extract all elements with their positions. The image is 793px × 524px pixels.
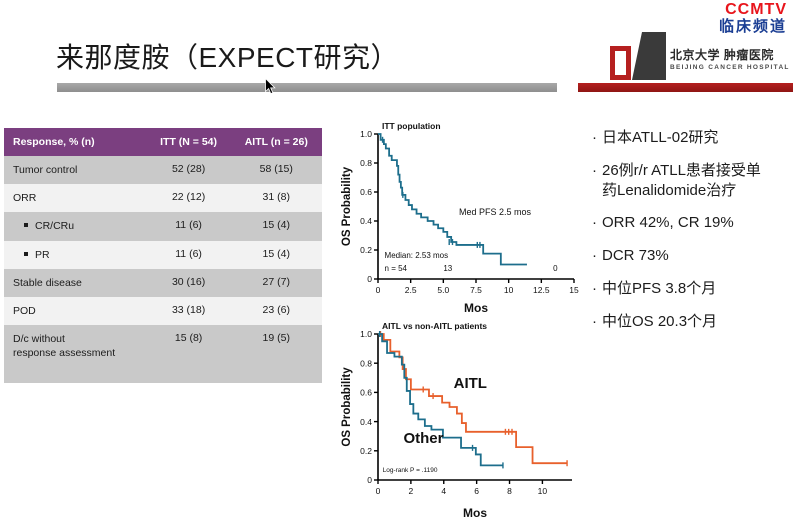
cell-aitl: 58 (15) (231, 156, 322, 184)
chart-annotation: 0 (553, 264, 558, 273)
chart-title: ITT population (382, 121, 441, 131)
cell-aitl: 15 (4) (231, 212, 322, 240)
bullet-dot-icon: · (592, 312, 602, 332)
bullet-item: ·中位OS 20.3个月 (592, 312, 793, 332)
chart-annotation: Other (403, 430, 443, 447)
column-header-itt: ITT (N = 54) (147, 128, 231, 156)
bullet-item: ·中位PFS 3.8个月 (592, 279, 793, 299)
bullet-text: 26例r/r ATLL患者接受单 药Lenalidomide治疗 (602, 161, 793, 201)
x-axis-tick-label: 8 (507, 486, 512, 496)
bullet-item: ·ORR 42%, CR 19% (592, 213, 793, 233)
chart-annotation: Log-rank P = .1190 (383, 467, 438, 474)
row-label: ORR (4, 184, 147, 212)
cell-itt: 15 (8) (147, 325, 231, 383)
y-axis-tick-label: 0.4 (360, 216, 372, 226)
table-row: ORR22 (12)31 (8) (4, 184, 322, 212)
cell-itt: 11 (6) (147, 241, 231, 269)
y-axis-tick-label: 1.0 (360, 129, 372, 139)
row-label: POD (4, 297, 147, 325)
row-label: D/c without response assessment (4, 325, 147, 383)
x-axis-tick-label: 15 (569, 285, 579, 295)
cell-aitl: 19 (5) (231, 325, 322, 383)
column-header-response: Response, % (n) (4, 128, 147, 156)
cell-itt: 52 (28) (147, 156, 231, 184)
chart-annotation: Med PFS 2.5 mos (459, 207, 532, 217)
bullet-dot-icon: · (592, 246, 602, 266)
bullet-item: ·26例r/r ATLL患者接受单 药Lenalidomide治疗 (592, 161, 793, 201)
x-axis-tick-label: 6 (474, 486, 479, 496)
table-row: D/c without response assessment15 (8)19 … (4, 325, 322, 383)
table-row: Tumor control52 (28)58 (15) (4, 156, 322, 184)
y-axis-tick-label: 1.0 (360, 329, 372, 339)
bullet-text: 中位PFS 3.8个月 (602, 279, 793, 299)
y-axis-tick-label: 0.2 (360, 446, 372, 456)
ccmtv-brand-text: CCMTV (719, 2, 787, 19)
chart-aitl-vs-non-aitl: AITL vs non-AITL patients00.20.40.60.81.… (340, 318, 580, 518)
row-label: Tumor control (4, 156, 147, 184)
hospital-name-cn: 北京大学 肿瘤医院 (670, 46, 774, 63)
y-axis-tick-label: 0.6 (360, 187, 372, 197)
chart-annotation: Median: 2.53 mos (385, 251, 449, 260)
cell-aitl: 23 (6) (231, 297, 322, 325)
bullet-text: DCR 73% (602, 246, 793, 266)
y-axis-label: OS Probability (341, 166, 353, 246)
x-axis-tick-label: 0 (376, 486, 381, 496)
cell-itt: 22 (12) (147, 184, 231, 212)
cell-itt: 33 (18) (147, 297, 231, 325)
x-axis-label: Mos (463, 506, 487, 518)
ccmtv-watermark: CCMTV 临床频道 (719, 2, 787, 35)
bullet-dot-icon: · (592, 213, 602, 233)
row-label: Stable disease (4, 269, 147, 297)
x-axis-tick-label: 7.5 (470, 285, 482, 295)
y-axis-tick-label: 0 (367, 475, 372, 485)
x-axis-tick-label: 5.0 (437, 285, 449, 295)
bullet-list: ·日本ATLL-02研究·26例r/r ATLL患者接受单 药Lenalidom… (592, 128, 793, 345)
y-axis-tick-label: 0.8 (360, 358, 372, 368)
y-axis-tick-label: 0 (367, 274, 372, 284)
x-axis-tick-label: 10 (538, 486, 548, 496)
y-axis-tick-label: 0.8 (360, 158, 372, 168)
cell-itt: 30 (16) (147, 269, 231, 297)
x-axis-tick-label: 10 (504, 285, 514, 295)
bullet-text: 中位OS 20.3个月 (602, 312, 793, 332)
column-header-aitl: AITL (n = 26) (231, 128, 322, 156)
x-axis-tick-label: 2 (409, 486, 414, 496)
table-row: Stable disease30 (16)27 (7) (4, 269, 322, 297)
chart-annotation: n = 54 (385, 264, 408, 273)
y-axis-label: OS Probability (341, 367, 353, 447)
cell-aitl: 27 (7) (231, 269, 322, 297)
x-axis-label: Mos (464, 301, 488, 313)
chart-annotation: 13 (443, 264, 452, 273)
bullet-item: ·DCR 73% (592, 246, 793, 266)
y-axis-tick-label: 0.6 (360, 388, 372, 398)
table-row: CR/CRu11 (6)15 (4) (4, 212, 322, 240)
response-table: Response, % (n) ITT (N = 54) AITL (n = 2… (4, 128, 322, 383)
bullet-text: 日本ATLL-02研究 (602, 128, 793, 148)
square-bullet-icon (24, 252, 28, 256)
x-axis-tick-label: 12.5 (533, 285, 550, 295)
y-axis-tick-label: 0.4 (360, 417, 372, 427)
square-bullet-icon (24, 223, 28, 227)
bullet-text: ORR 42%, CR 19% (602, 213, 793, 233)
table-header-row: Response, % (n) ITT (N = 54) AITL (n = 2… (4, 128, 322, 156)
table-row: POD33 (18)23 (6) (4, 297, 322, 325)
bullet-item: ·日本ATLL-02研究 (592, 128, 793, 148)
bullet-dot-icon: · (592, 279, 602, 299)
page-title: 来那度胺（EXPECT研究） (56, 36, 399, 76)
hospital-logo: 北京大学 肿瘤医院 BEIJING CANCER HOSPITAL (610, 32, 790, 82)
table-row: PR11 (6)15 (4) (4, 241, 322, 269)
chart-itt-population: ITT population00.20.40.60.81.002.55.07.5… (340, 118, 580, 313)
x-axis-tick-label: 4 (441, 486, 446, 496)
cell-aitl: 31 (8) (231, 184, 322, 212)
x-axis-tick-label: 2.5 (405, 285, 417, 295)
x-axis-tick-label: 0 (376, 285, 381, 295)
hospital-logo-mark-icon (610, 32, 666, 80)
hospital-name-en: BEIJING CANCER HOSPITAL (670, 64, 790, 71)
cell-itt: 11 (6) (147, 212, 231, 240)
chart-annotation: AITL (454, 375, 487, 392)
bullet-dot-icon: · (592, 128, 602, 148)
row-label: PR (4, 241, 147, 269)
y-axis-tick-label: 0.2 (360, 245, 372, 255)
title-divider-right (578, 83, 793, 92)
chart-title: AITL vs non-AITL patients (382, 321, 487, 331)
bullet-dot-icon: · (592, 161, 602, 181)
cell-aitl: 15 (4) (231, 241, 322, 269)
title-divider-left (57, 83, 557, 92)
row-label: CR/CRu (4, 212, 147, 240)
